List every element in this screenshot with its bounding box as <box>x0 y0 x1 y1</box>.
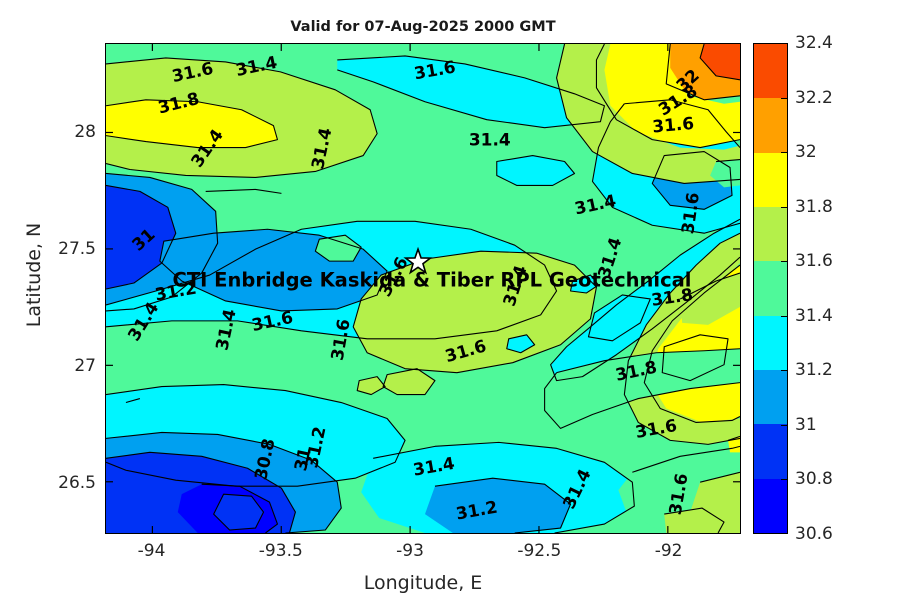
colorbar-band <box>754 98 787 152</box>
colorbar-tick-label: 31 <box>795 415 817 435</box>
colorbar-tick-label: 31.6 <box>795 251 833 271</box>
contour-label: 31.6 <box>651 113 694 137</box>
colorbar-tick-mark <box>781 370 788 371</box>
x-tick-label: -93 <box>396 541 424 561</box>
colorbar-tick-label: 30.8 <box>795 469 833 489</box>
contour-label: 31.4 <box>469 130 511 150</box>
y-tick-label: 28 <box>40 122 96 142</box>
x-tick-label: -92.5 <box>517 541 561 561</box>
colorbar-band <box>754 424 787 478</box>
colorbar-band <box>754 207 787 261</box>
y-tick-label: 27 <box>40 356 96 376</box>
colorbar-tick-label: 32.2 <box>795 88 833 108</box>
colorbar-tick-label: 31.2 <box>795 360 833 380</box>
y-tick-label: 26.5 <box>40 473 96 493</box>
colorbar-band <box>754 261 787 315</box>
colorbar-band <box>754 370 787 424</box>
x-tick-label: -93.5 <box>259 541 303 561</box>
colorbar[interactable] <box>753 43 788 534</box>
colorbar-tick-mark <box>781 207 788 208</box>
x-tick-label: -94 <box>138 541 166 561</box>
colorbar-band <box>754 479 787 533</box>
colorbar-tick-mark <box>781 425 788 426</box>
y-axis-label: Latitude, N <box>23 155 45 395</box>
y-tick-label: 27.5 <box>40 239 96 259</box>
colorbar-tick-mark <box>781 261 788 262</box>
sst-contour-figure: Valid for 07-Aug-2025 2000 GMT <box>0 0 900 600</box>
colorbar-tick-label: 31.4 <box>795 306 833 326</box>
x-tick-label: -92 <box>655 541 683 561</box>
colorbar-band <box>754 153 787 207</box>
site-annotation-label: CTI Enbridge Kaskida & Tiber RPL Geotech… <box>173 269 692 292</box>
colorbar-tick-label: 32 <box>795 142 817 162</box>
colorbar-band <box>754 44 787 98</box>
colorbar-tick-mark <box>781 152 788 153</box>
colorbar-tick-label: 32.4 <box>795 33 833 53</box>
colorbar-tick-mark <box>781 98 788 99</box>
x-axis-label: Longitude, E <box>105 572 741 594</box>
colorbar-band <box>754 316 787 370</box>
colorbar-tick-label: 31.8 <box>795 197 833 217</box>
colorbar-tick-mark <box>781 316 788 317</box>
colorbar-tick-label: 30.6 <box>795 524 833 544</box>
plot-title: Valid for 07-Aug-2025 2000 GMT <box>105 19 741 35</box>
colorbar-tick-mark <box>781 479 788 480</box>
